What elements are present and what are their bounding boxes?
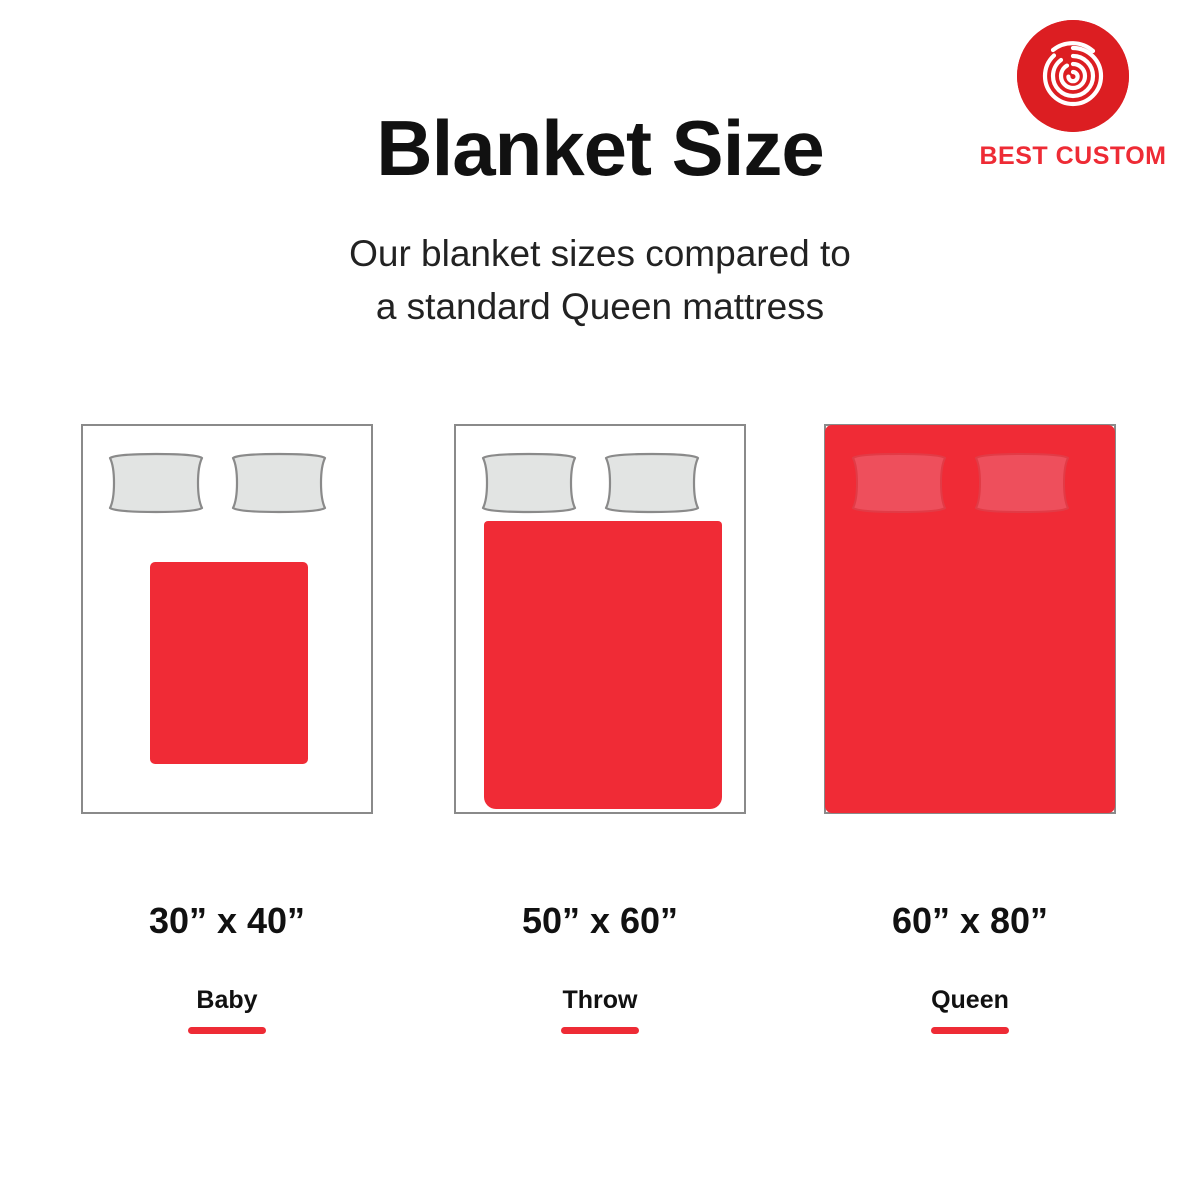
accent-underline (188, 1027, 266, 1034)
pillow-icon (106, 452, 206, 514)
caption-baby: 30” x 40” Baby (81, 900, 373, 1034)
dimensions-label: 50” x 60” (454, 900, 746, 942)
pillow-icon (229, 452, 329, 514)
caption-throw: 50” x 60” Throw (454, 900, 746, 1034)
dimensions-label: 60” x 80” (824, 900, 1116, 942)
accent-underline (931, 1027, 1009, 1034)
pillow-icon (479, 452, 579, 514)
size-name-label: Queen (824, 986, 1116, 1015)
page-subtitle: Our blanket sizes compared to a standard… (0, 228, 1200, 333)
mattress-throw (454, 424, 746, 814)
size-name-label: Baby (81, 986, 373, 1015)
pillow-icon (849, 452, 949, 514)
caption-queen: 60” x 80” Queen (824, 900, 1116, 1034)
mattress-baby (81, 424, 373, 814)
size-name-label: Throw (454, 986, 746, 1015)
mattress-queen (824, 424, 1116, 814)
pillow-icon (972, 452, 1072, 514)
subtitle-line-2: a standard Queen mattress (0, 281, 1200, 334)
pillow-icon (602, 452, 702, 514)
accent-underline (561, 1027, 639, 1034)
page-title: Blanket Size (0, 108, 1200, 190)
blanket-throw (484, 521, 722, 809)
bed-comparison-row (0, 424, 1200, 816)
blanket-baby (150, 562, 308, 764)
caption-row: 30” x 40” Baby 50” x 60” Throw 60” x 80”… (0, 900, 1200, 1040)
dimensions-label: 30” x 40” (81, 900, 373, 942)
subtitle-line-1: Our blanket sizes compared to (0, 228, 1200, 281)
